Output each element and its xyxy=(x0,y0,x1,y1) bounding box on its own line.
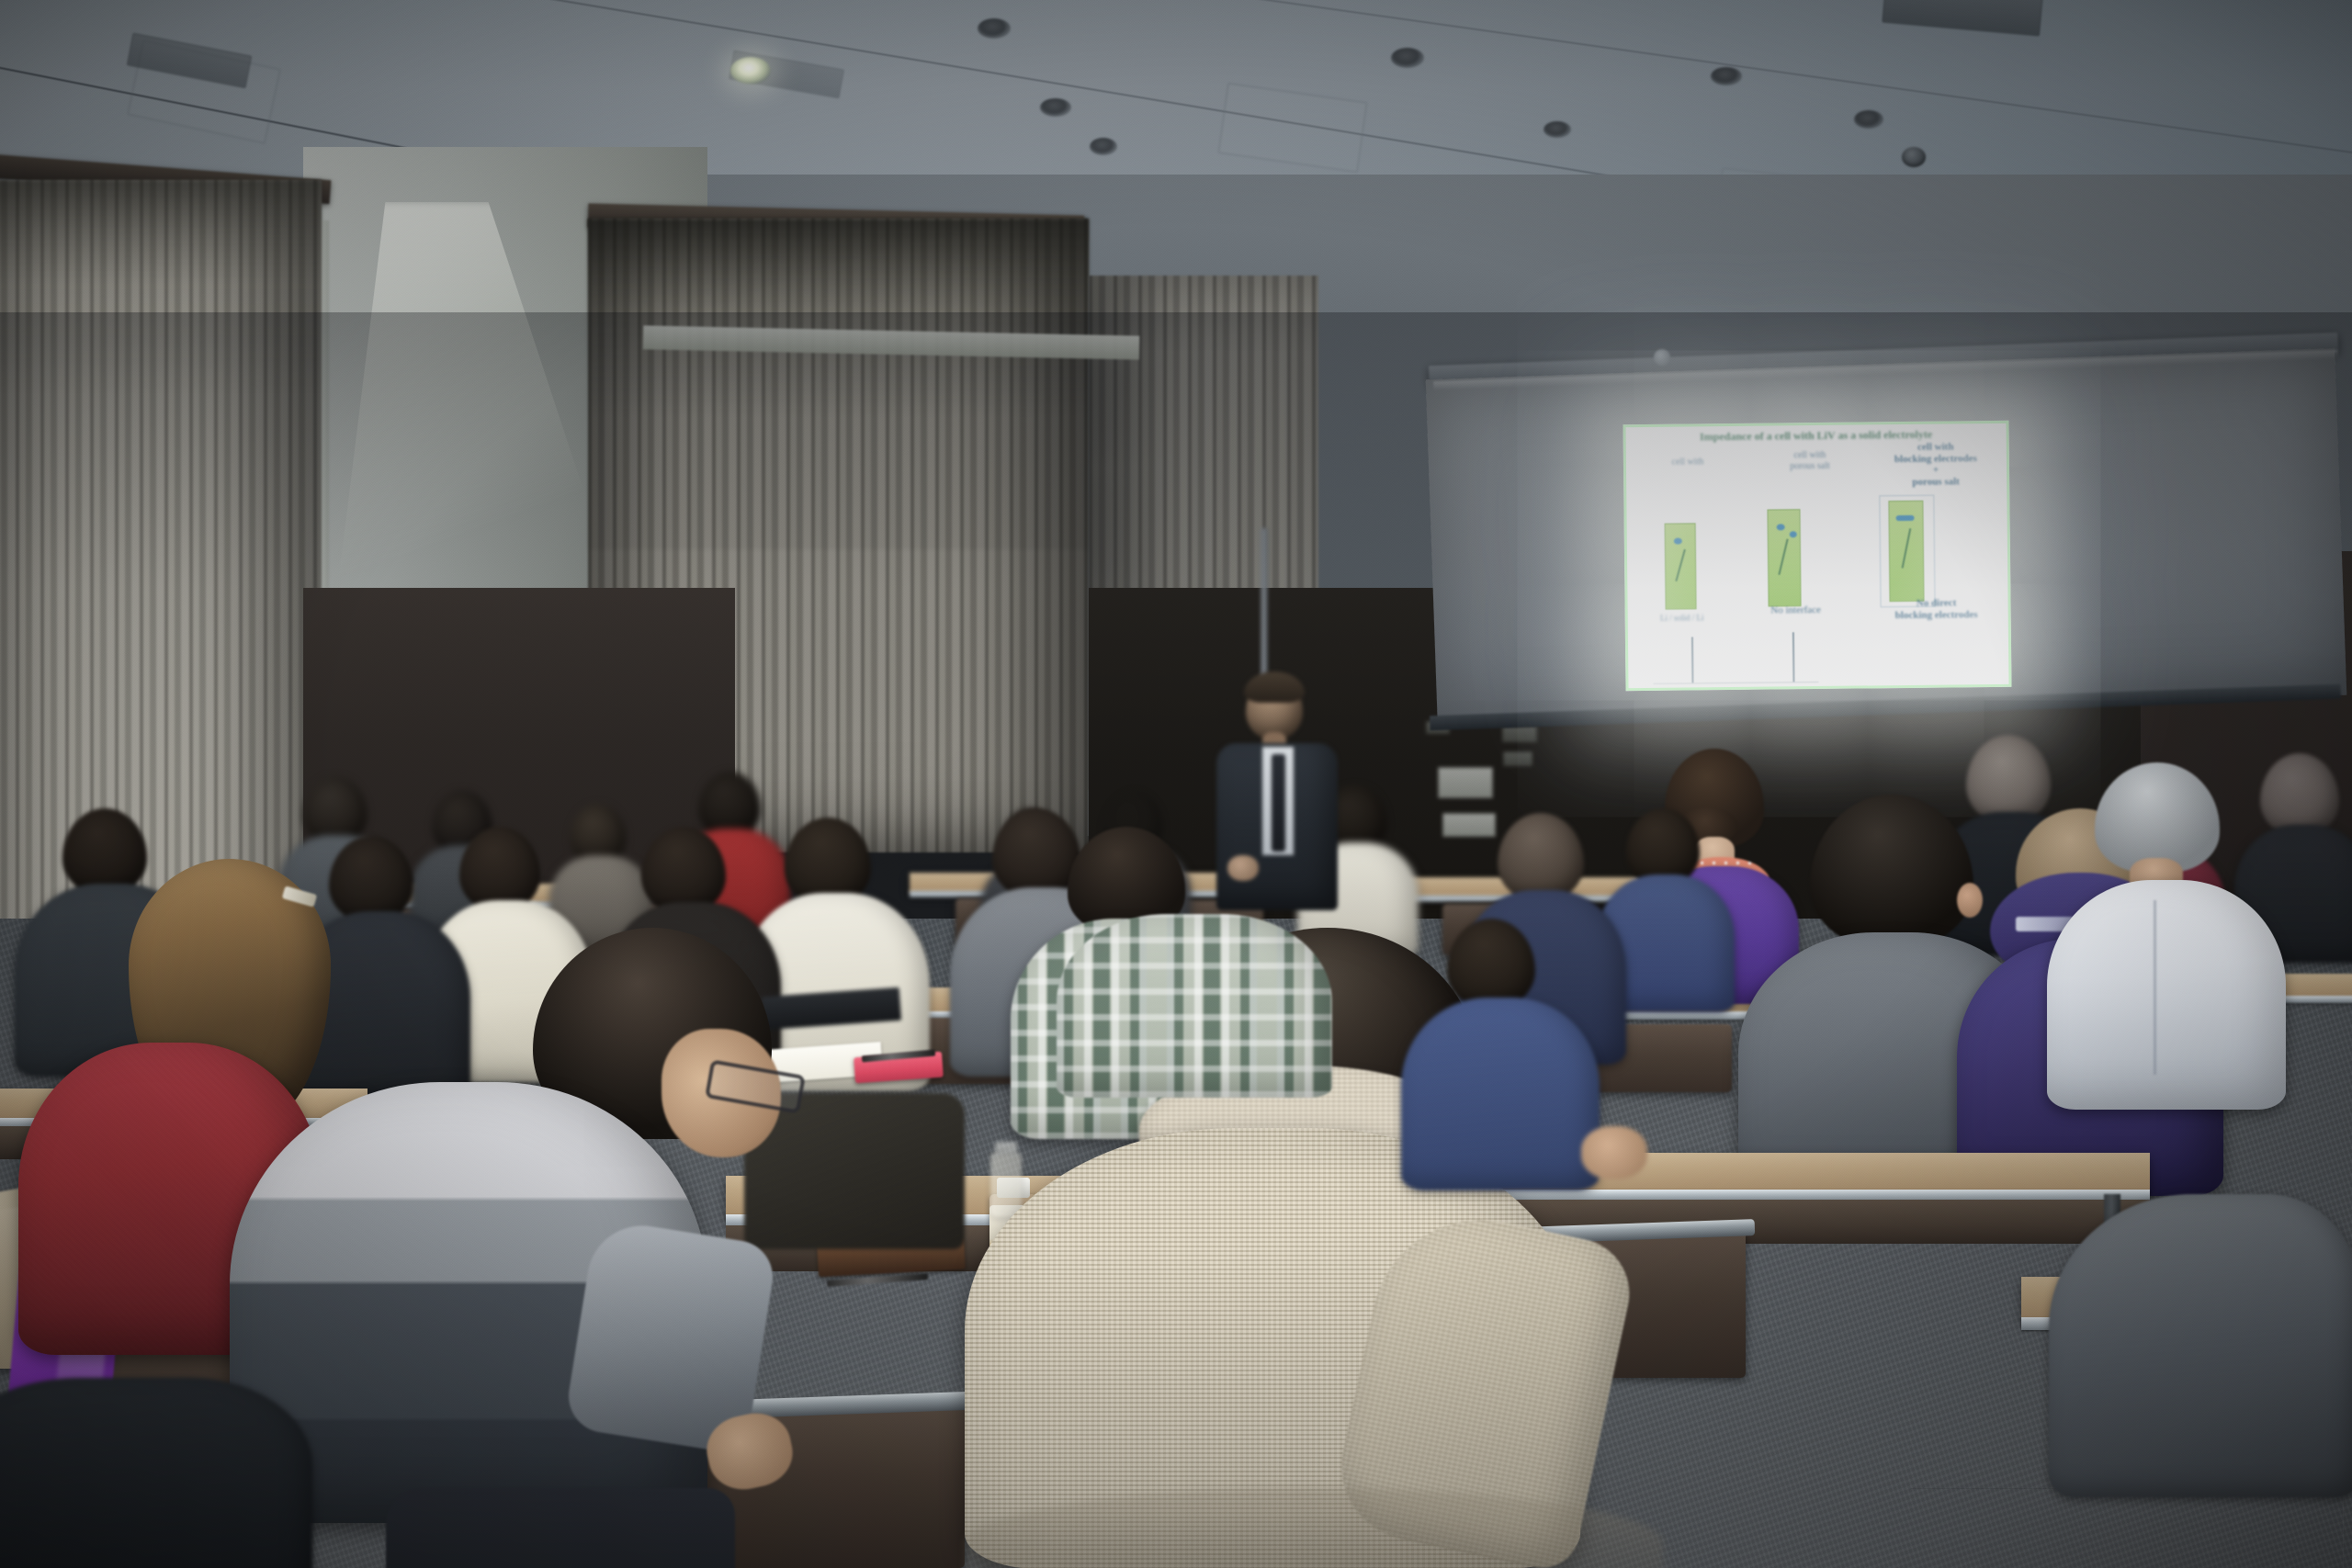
wall-sign-a xyxy=(1438,767,1493,798)
projected-slide: Impedance of a cell with LiV as a solid … xyxy=(1623,421,2011,691)
wall-sign-c xyxy=(1502,726,1537,742)
hand xyxy=(1581,1126,1647,1179)
downlight-2 xyxy=(1040,98,1071,117)
torso xyxy=(1057,914,1332,1098)
curtain-left-shadow xyxy=(0,180,322,658)
slide-subtitle-mid: cell with porous salt xyxy=(1752,449,1868,471)
shirt-placket-seam xyxy=(2154,900,2156,1075)
slide-caption-right: No direct blocking electrodes xyxy=(1867,597,2005,622)
curtain-center-shadow xyxy=(588,219,1089,549)
downlight-12 xyxy=(978,18,1011,39)
trousers xyxy=(386,1488,735,1568)
torso xyxy=(2047,880,2286,1110)
torso xyxy=(1401,998,1600,1190)
slide-subtitle-right: cell with blocking electrodes + porous s… xyxy=(1870,441,2003,489)
slide-plot-axis-1 xyxy=(1691,637,1693,682)
downlight-8 xyxy=(1543,121,1571,138)
slide-ion-2 xyxy=(1777,524,1785,530)
screen-roller-bracket xyxy=(1654,349,1670,366)
torso xyxy=(2049,1194,2352,1497)
slide-caption-mid: No interface xyxy=(1743,604,1849,617)
slide-plot-axis-2 xyxy=(1792,632,1794,682)
torso xyxy=(0,1378,312,1568)
wall-sign-b xyxy=(1442,813,1496,837)
slide-plot-baseline xyxy=(1653,682,1818,684)
slide-ion-1 xyxy=(1674,538,1682,545)
wall-sign-d xyxy=(1503,751,1532,766)
water-bottle-cap xyxy=(995,1142,1017,1155)
slide-outline-box xyxy=(1879,495,1935,608)
ceiling-speaker xyxy=(1902,147,1926,167)
downlight-6 xyxy=(1090,138,1117,155)
ear xyxy=(1957,883,1983,918)
lecture-hall-photo: Impedance of a cell with LiV as a solid … xyxy=(0,0,2352,1568)
slide-caption-left: Li / solid / Li xyxy=(1633,613,1732,623)
slide-ion-2b xyxy=(1790,531,1797,537)
slide-subtitle-left: cell with xyxy=(1634,457,1741,468)
downlight-1 xyxy=(730,57,771,85)
downlight-4 xyxy=(1711,67,1742,85)
water-bottle xyxy=(990,1153,1022,1217)
presenter-tie xyxy=(1272,754,1285,852)
downlight-5 xyxy=(1854,110,1883,129)
downlight-3 xyxy=(1391,48,1424,68)
presenter-hand xyxy=(1227,855,1259,881)
